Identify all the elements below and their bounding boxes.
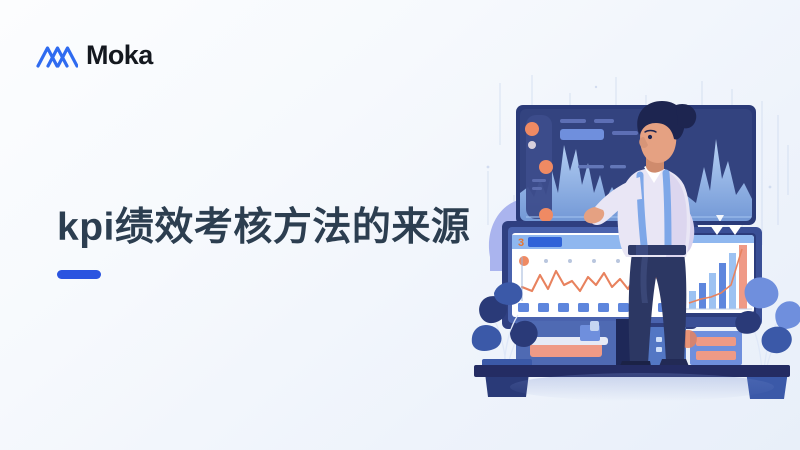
- slide-canvas: Moka kpi绩效考核方法的来源: [0, 0, 800, 450]
- page-title: kpi绩效考核方法的来源: [57, 206, 470, 250]
- hero-title-block: kpi绩效考核方法的来源: [57, 206, 470, 279]
- title-accent-bar: [57, 270, 101, 279]
- brand-name: Moka: [86, 42, 153, 69]
- brand-logo[interactable]: Moka: [36, 40, 153, 70]
- svg-text:3: 3: [518, 237, 524, 249]
- moka-mountain-logo-icon: [36, 40, 78, 70]
- analyst-dashboard-illustration: 3: [470, 75, 800, 405]
